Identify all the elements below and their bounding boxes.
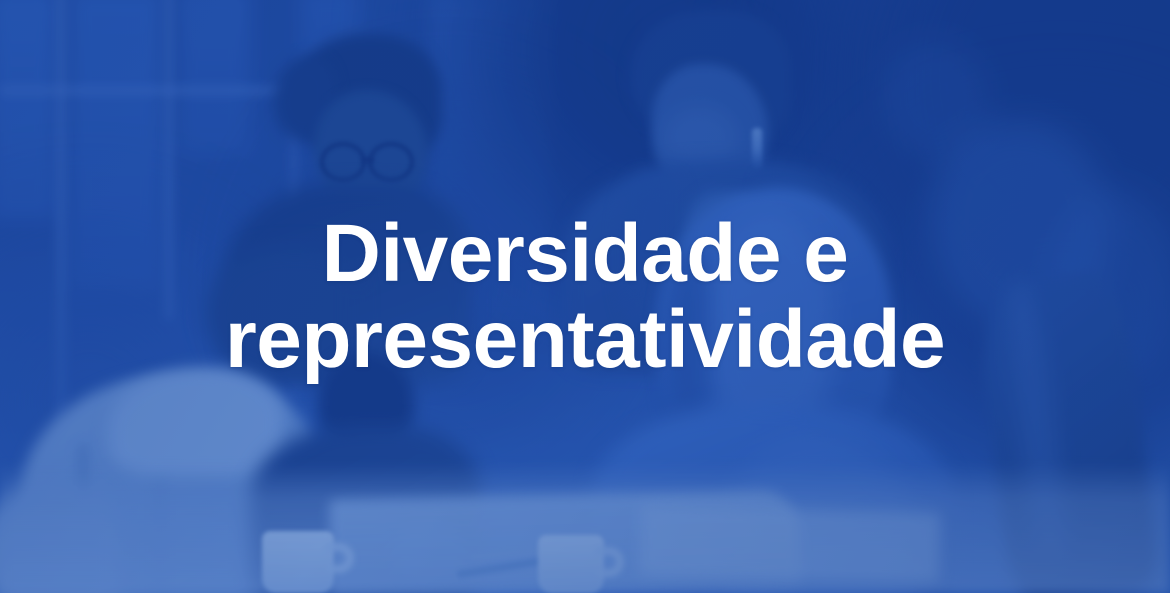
hero-banner: Diversidade e representatividade [0,0,1170,593]
eyeglasses-lens [368,142,414,182]
background-photo [0,0,1170,593]
hijab-fold [706,212,834,432]
coffee-mug [538,535,604,593]
window-pane [0,0,56,220]
window-pane [70,0,162,290]
papers-on-table [639,505,941,583]
person-with-glasses [196,34,496,364]
eyeglasses-lens [320,142,366,182]
coffee-mug [262,531,334,593]
eyeglasses-bridge [362,158,374,162]
face-highlight [662,106,738,168]
